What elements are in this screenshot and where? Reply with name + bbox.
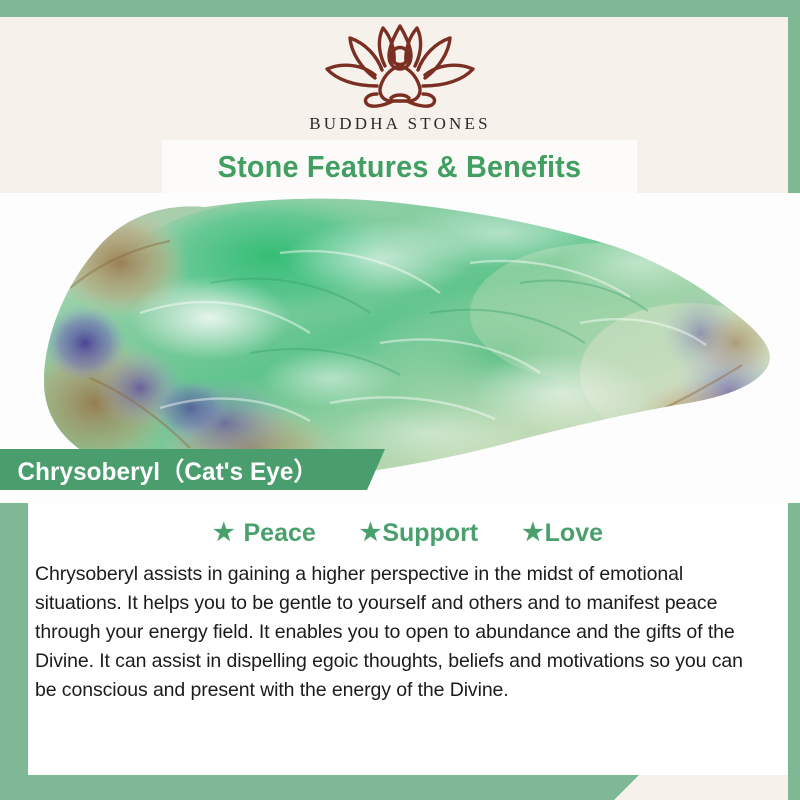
brand-name: BUDDHA STONES: [0, 114, 800, 134]
page-title: Stone Features & Benefits: [218, 149, 582, 185]
stone-description: Chrysoberyl assists in gaining a higher …: [35, 560, 751, 705]
frame-bottom-band: [0, 774, 640, 800]
stone-name: Chrysoberyl（Cat's Eye）: [0, 452, 318, 488]
benefits-row: ★ Peace ★ Support ★ Love: [28, 512, 788, 554]
title-panel: Stone Features & Benefits: [162, 140, 637, 193]
benefit-love: ★ Love: [522, 519, 603, 548]
star-icon: ★: [213, 521, 235, 545]
benefit-support: ★ Support: [360, 519, 478, 548]
star-icon: ★: [522, 521, 544, 545]
benefit-label: Support: [382, 519, 478, 548]
benefit-label: Love: [545, 519, 603, 548]
frame-top-band: [0, 0, 800, 17]
brand-logo: BUDDHA STONES: [0, 22, 800, 134]
benefit-label: Peace: [244, 519, 316, 548]
infographic-page: BUDDHA STONES Stone Features & Benefits: [0, 0, 800, 800]
star-icon: ★: [360, 521, 382, 545]
lotus-meditation-figure-icon: [0, 22, 800, 110]
benefit-peace: ★ Peace: [213, 519, 316, 548]
stone-name-banner: Chrysoberyl（Cat's Eye）: [0, 449, 385, 490]
